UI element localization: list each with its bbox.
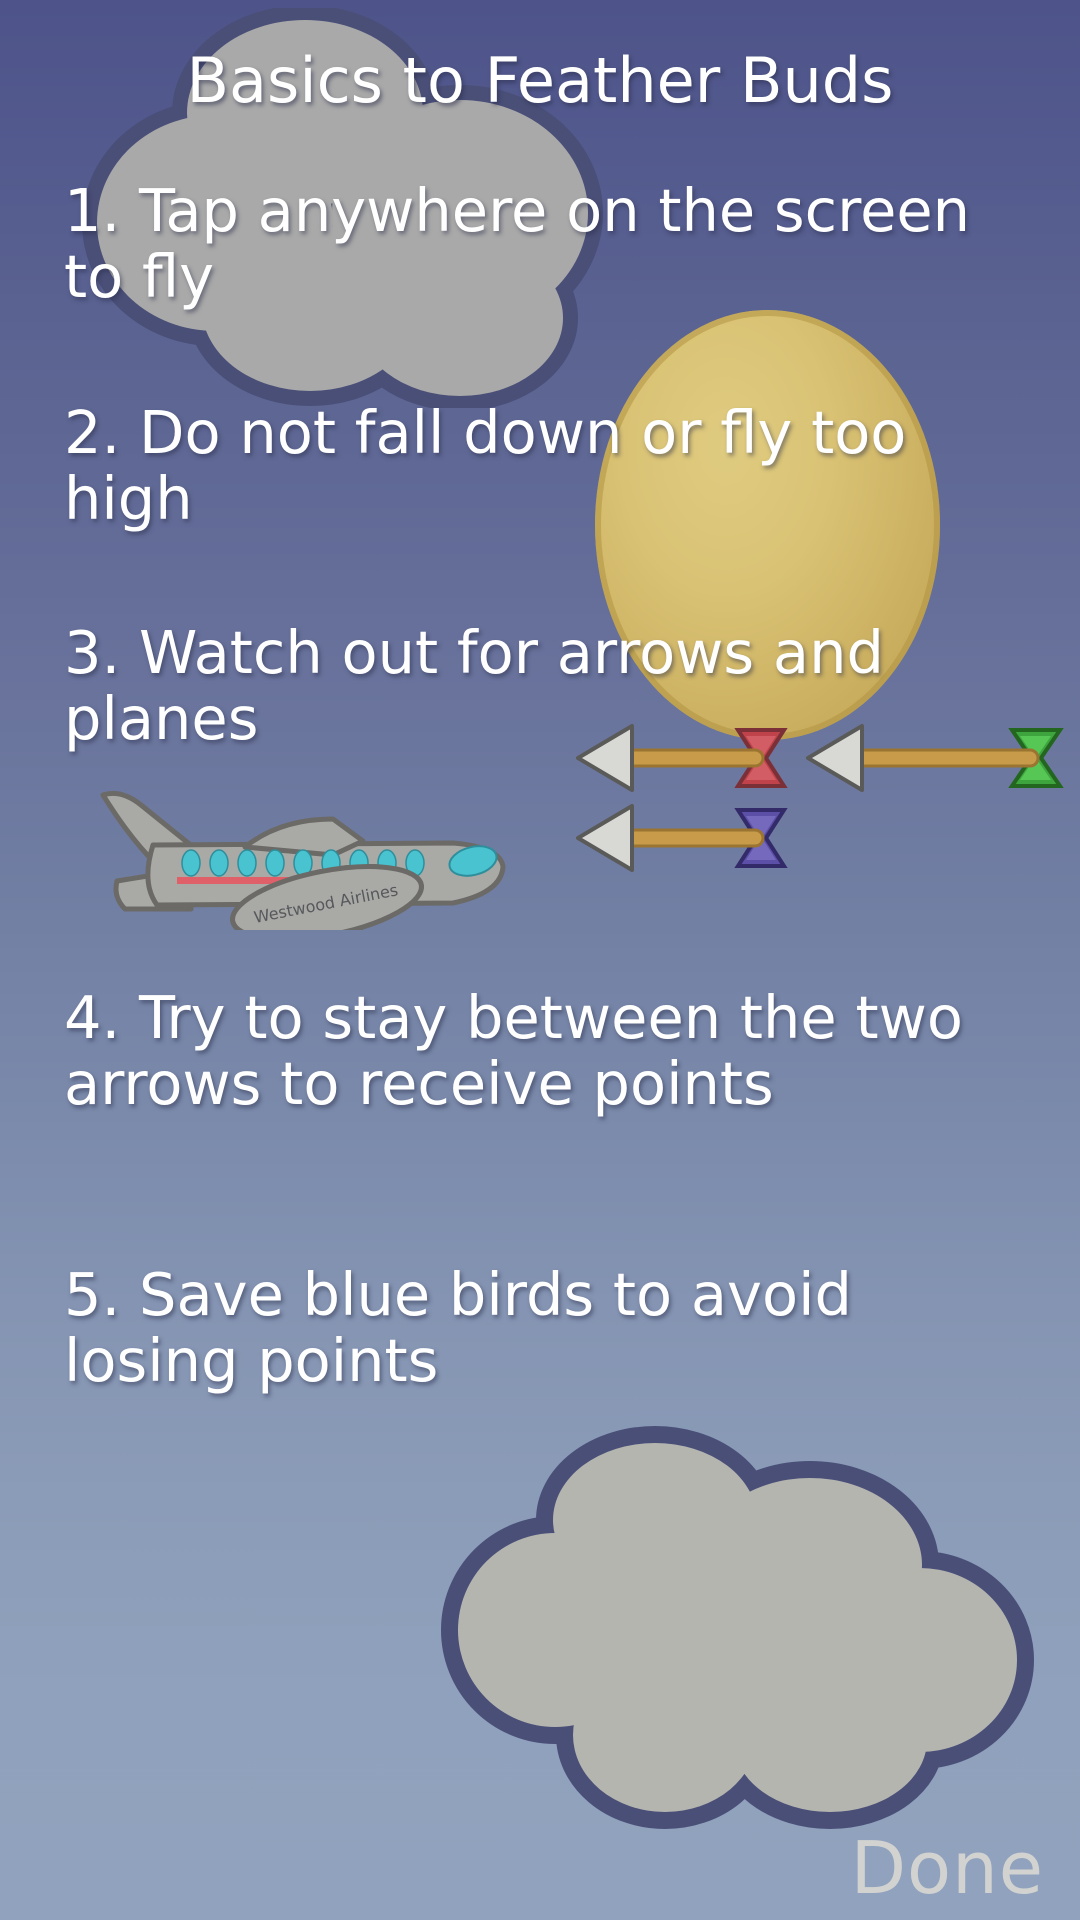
instruction-step-5: 5. Save blue birds to avoid losing point… (64, 1262, 1024, 1394)
instruction-step-3: 3. Watch out for arrows and planes (64, 620, 1024, 752)
instruction-step-4: 4. Try to stay between the two arrows to… (64, 985, 1024, 1117)
instruction-step-1: 1. Tap anywhere on the screen to fly (64, 178, 1024, 310)
instruction-step-2: 2. Do not fall down or fly too high (64, 400, 1024, 532)
done-button[interactable]: Done (837, 1828, 1058, 1908)
tutorial-screen: Westwood Airlines Basics to Feather Buds… (0, 0, 1080, 1920)
instructions-layer: Basics to Feather Buds 1. Tap anywhere o… (0, 0, 1080, 1920)
page-title: Basics to Feather Buds (0, 48, 1080, 113)
